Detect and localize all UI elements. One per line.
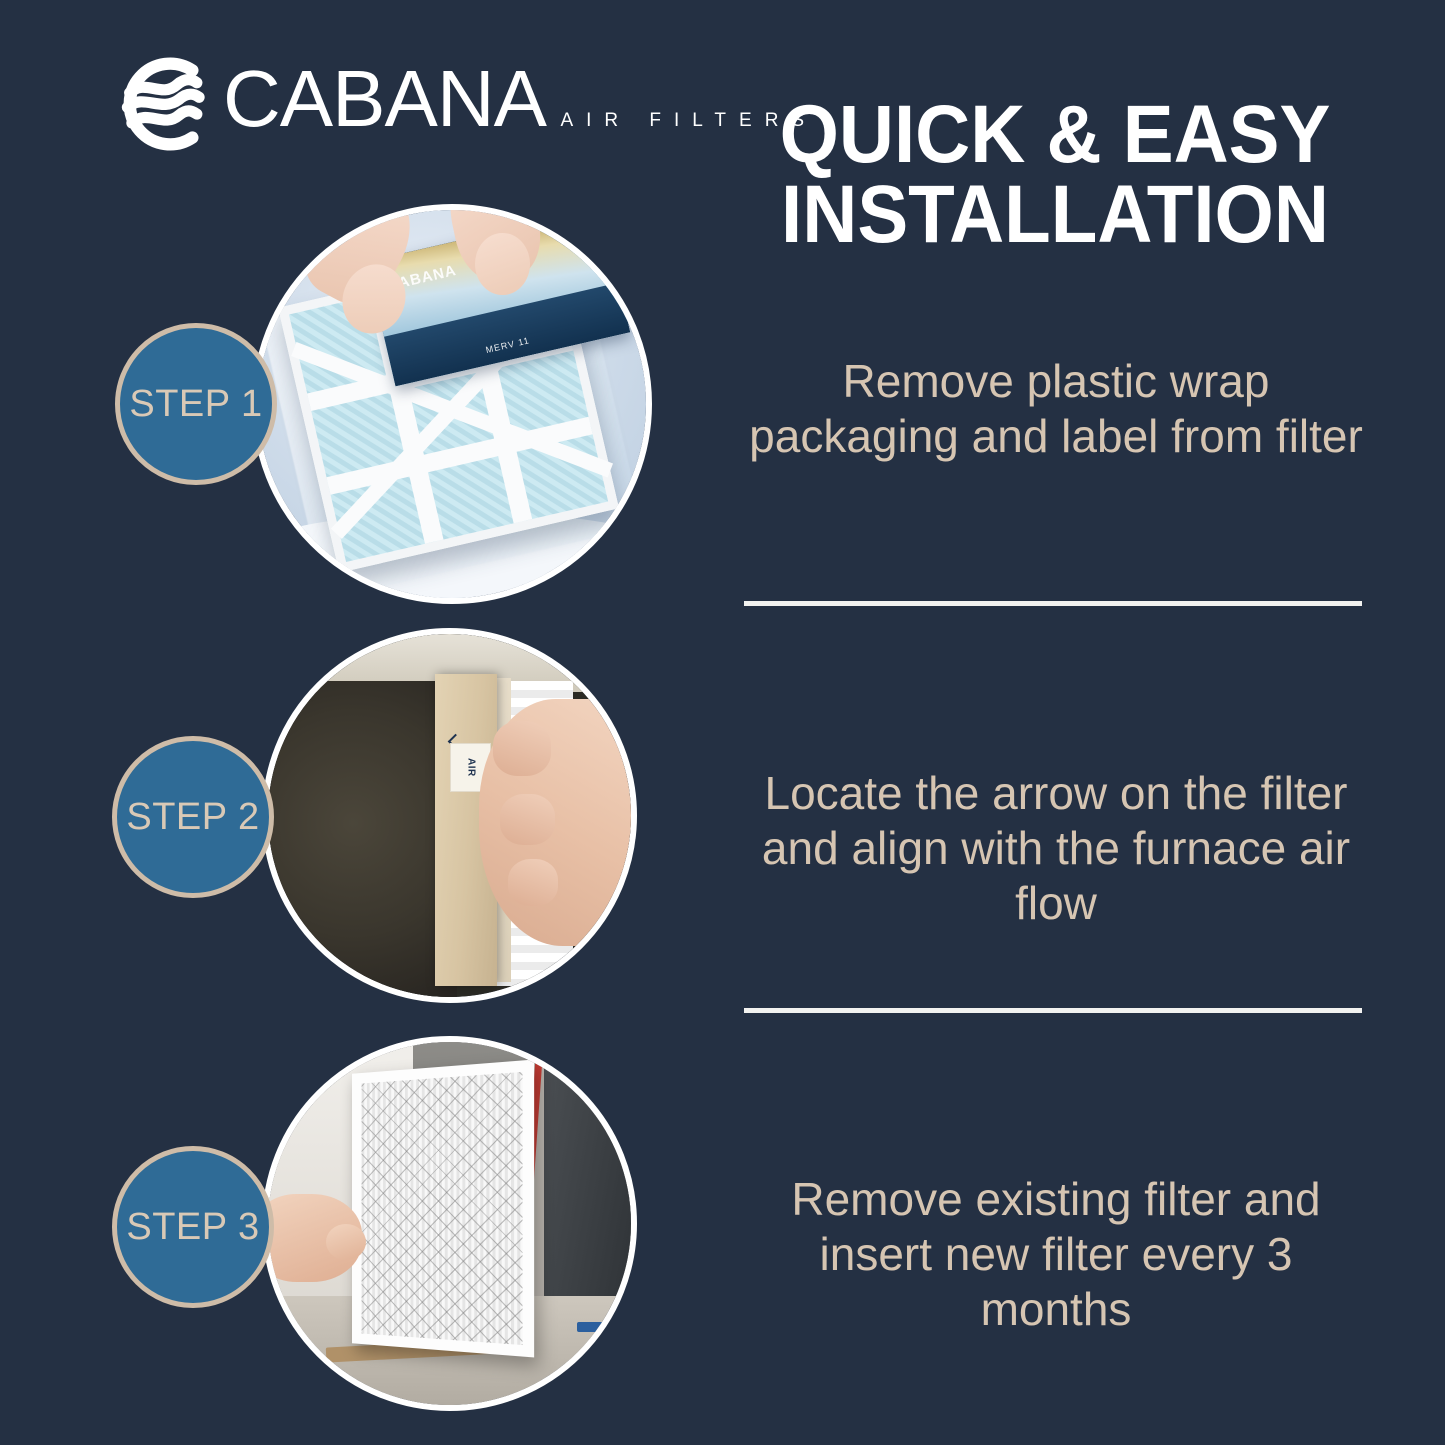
step-1-text: Remove plastic wrap packaging and label …: [742, 354, 1370, 464]
installation-infographic: CABANA AIR FILTERS QUICK & EASY INSTALLA…: [0, 0, 1445, 1445]
cabana-waves-c-icon: [105, 48, 217, 160]
step-row-1: CABANA MERV 11 STEP 1 Remove plastic wra…: [0, 200, 1445, 605]
step-2-text: Locate the arrow on the filter and align…: [742, 766, 1370, 932]
brand-name: CABANA: [223, 54, 546, 143]
step-3-badge-label: STEP 3: [126, 1206, 259, 1249]
step-3-photo: [262, 1036, 637, 1411]
air-flow-label-text: AIR: [465, 758, 476, 777]
step-3-text: Remove existing filter and insert new fi…: [742, 1172, 1370, 1338]
step-1-photo: CABANA MERV 11: [252, 204, 652, 604]
divider-1: [744, 601, 1362, 606]
divider-2: [744, 1008, 1362, 1013]
brand-logo: CABANA AIR FILTERS: [105, 48, 817, 160]
step-2-badge-label: STEP 2: [126, 796, 259, 839]
step-2-badge: STEP 2: [112, 736, 274, 898]
step-2-photo: AIR: [262, 628, 637, 1003]
step-row-2: AIR STEP 2 Locate the arrow on the filte…: [0, 608, 1445, 1011]
headline-line-1: QUICK & EASY: [780, 89, 1331, 180]
step-3-badge: STEP 3: [112, 1146, 274, 1308]
step-1-badge: STEP 1: [115, 323, 277, 485]
step-row-3: STEP 3 Remove existing filter and insert…: [0, 1014, 1445, 1419]
step-1-badge-label: STEP 1: [129, 383, 262, 426]
brand-wordmark: CABANA AIR FILTERS: [223, 48, 817, 136]
